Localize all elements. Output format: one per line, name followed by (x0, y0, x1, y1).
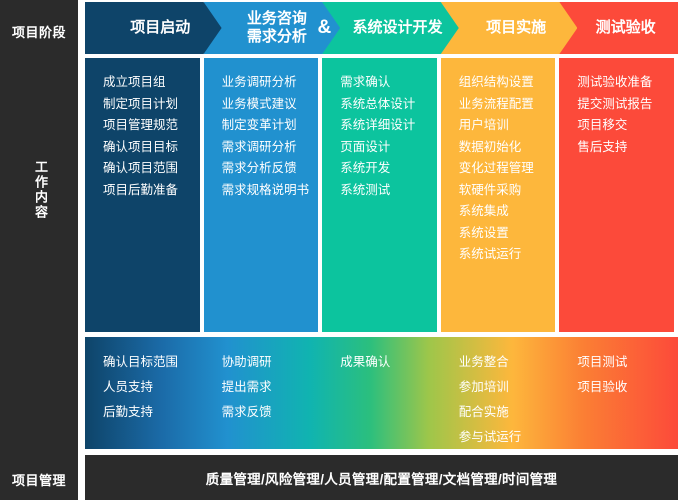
task-item: 提交测试报告 (577, 94, 674, 116)
participation-item: 需求反馈 (222, 400, 323, 425)
task-item: 需求分析反馈 (222, 158, 319, 180)
phase-header-business-consulting-requirements[interactable]: 业务咨询需求分析& (204, 2, 341, 54)
task-item: 系统开发 (340, 158, 437, 180)
task-item: 需求调研分析 (222, 137, 319, 159)
task-item: 业务流程配置 (459, 94, 556, 116)
participation-column-business-consulting-requirements: 协助调研提出需求需求反馈 (204, 337, 323, 449)
task-item: 软硬件采购 (459, 180, 556, 202)
task-item: 业务调研分析 (222, 72, 319, 94)
participation-column-project-implementation: 业务整合参加培训配合实施参与试运行 (441, 337, 560, 449)
task-item: 制定变革计划 (222, 115, 319, 137)
task-item: 成立项目组 (103, 72, 200, 94)
task-item: 项目后勤准备 (103, 180, 200, 202)
task-item: 测试验收准备 (577, 72, 674, 94)
participation-item: 参与试运行 (459, 425, 560, 450)
task-item: 制定项目计划 (103, 94, 200, 116)
task-item: 项目移交 (577, 115, 674, 137)
phase-header-line2-business-consulting-requirements: 需求分析 (247, 28, 307, 46)
sidebar-row-label-work-content: 工作内容 (31, 160, 47, 220)
participation-item: 参加培训 (459, 375, 560, 400)
task-item: 确认项目目标 (103, 137, 200, 159)
phase-header-label-testing-acceptance: 测试验收 (582, 19, 656, 37)
task-item: 系统详细设计 (340, 115, 437, 137)
sidebar-row-label-project-phase: 项目阶段 (0, 22, 78, 41)
phase-header-label-project-initiation: 项目启动 (116, 19, 190, 37)
participation-item: 确认目标范围 (103, 350, 204, 375)
phase-task-columns: 成立项目组制定项目计划项目管理规范确认项目目标确认项目范围项目后勤准备业务调研分… (85, 58, 678, 332)
phase-header-label-business-consulting-requirements: 业务咨询需求分析 (231, 10, 313, 45)
phase-header-project-initiation[interactable]: 项目启动 (85, 2, 222, 54)
task-item: 组织结构设置 (459, 72, 556, 94)
task-column-business-consulting-requirements: 业务调研分析业务模式建议制定变革计划需求调研分析需求分析反馈需求规格说明书 (204, 58, 319, 332)
participation-item: 提出需求 (222, 375, 323, 400)
participation-item: 后勤支持 (103, 400, 204, 425)
participation-item: 成果确认 (340, 350, 441, 375)
participation-item: 项目测试 (577, 350, 678, 375)
project-management-bar-text: 质量管理/风险管理/人员管理/配置管理/文档管理/时间管理 (206, 468, 557, 488)
project-management-bar: 质量管理/风险管理/人员管理/配置管理/文档管理/时间管理 (85, 455, 678, 500)
task-item: 系统设置 (459, 223, 556, 245)
task-item: 系统总体设计 (340, 94, 437, 116)
phase-header-project-implementation[interactable]: 项目实施 (441, 2, 578, 54)
phase-header-system-design-development[interactable]: 系统设计开发 (322, 2, 459, 54)
task-column-project-initiation: 成立项目组制定项目计划项目管理规范确认项目目标确认项目范围项目后勤准备 (85, 58, 200, 332)
participation-item: 人员支持 (103, 375, 204, 400)
ampersand-business-consulting-requirements: & (317, 17, 331, 39)
task-item: 系统集成 (459, 201, 556, 223)
task-item: 需求确认 (340, 72, 437, 94)
task-item: 业务模式建议 (222, 94, 319, 116)
task-column-testing-acceptance: 测试验收准备提交测试报告项目移交售后支持 (559, 58, 674, 332)
participation-item: 配合实施 (459, 400, 560, 425)
task-item: 数据初始化 (459, 137, 556, 159)
sidebar-row-label-project-management: 项目管理 (0, 470, 78, 489)
phase-header-label-system-design-development: 系统设计开发 (338, 19, 442, 37)
task-item: 用户培训 (459, 115, 556, 137)
participation-column-testing-acceptance: 项目测试项目验收 (559, 337, 678, 449)
task-item: 页面设计 (340, 137, 437, 159)
phase-header-label-project-implementation: 项目实施 (472, 19, 546, 37)
task-item: 确认项目范围 (103, 158, 200, 180)
task-item: 变化过程管理 (459, 158, 556, 180)
task-item: 项目管理规范 (103, 115, 200, 137)
task-column-project-implementation: 组织结构设置业务流程配置用户培训数据初始化变化过程管理软硬件采购系统集成系统设置… (441, 58, 556, 332)
participation-item: 业务整合 (459, 350, 560, 375)
participation-column-project-initiation: 确认目标范围人员支持后勤支持 (85, 337, 204, 449)
task-item: 售后支持 (577, 137, 674, 159)
customer-participation-band: 确认目标范围人员支持后勤支持协助调研提出需求需求反馈成果确认业务整合参加培训配合… (85, 337, 678, 449)
sidebar: 项目阶段 工作内容 项目管理 (0, 0, 78, 500)
project-phase-diagram: 项目阶段 工作内容 项目管理 项目启动业务咨询需求分析&系统设计开发项目实施测试… (0, 0, 678, 500)
task-item: 系统试运行 (459, 244, 556, 266)
participation-item: 协助调研 (222, 350, 323, 375)
participation-column-system-design-development: 成果确认 (322, 337, 441, 449)
task-item: 系统测试 (340, 180, 437, 202)
task-item: 需求规格说明书 (222, 180, 319, 202)
phase-header-row: 项目启动业务咨询需求分析&系统设计开发项目实施测试验收 (85, 2, 678, 54)
task-column-system-design-development: 需求确认系统总体设计系统详细设计页面设计系统开发系统测试 (322, 58, 437, 332)
phase-header-line1-business-consulting-requirements: 业务咨询 (247, 10, 307, 28)
participation-item: 项目验收 (577, 375, 678, 400)
